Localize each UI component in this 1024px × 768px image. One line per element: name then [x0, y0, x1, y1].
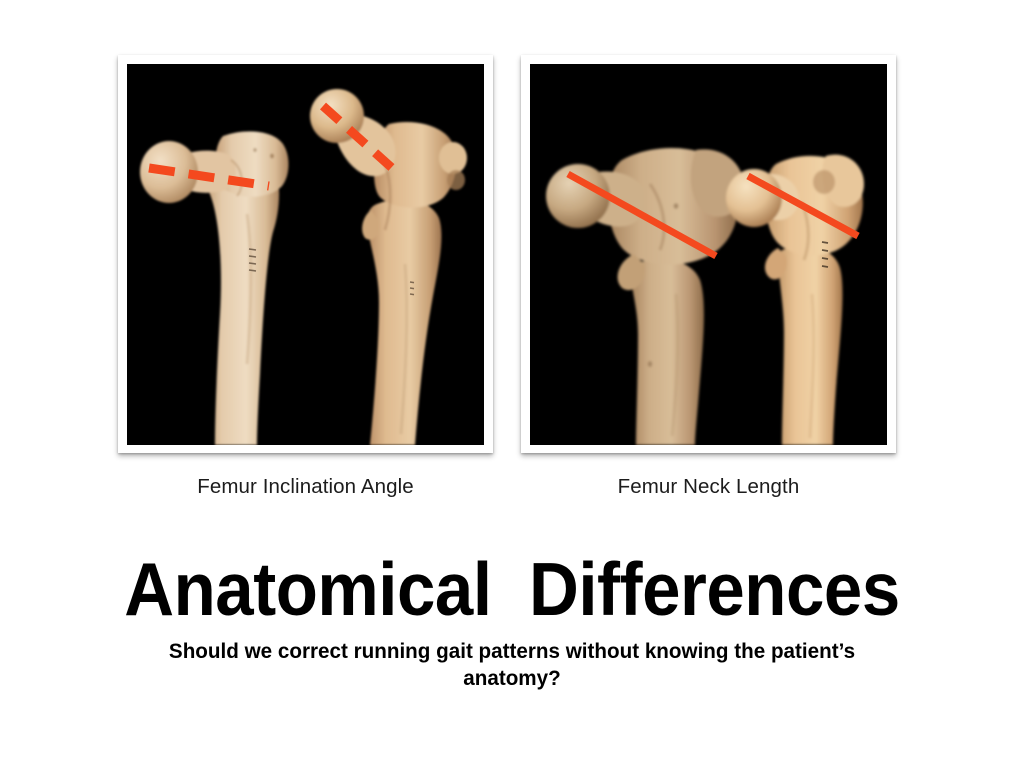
photo-frame-neck-length: [521, 55, 896, 453]
photo-frame-inclination: [118, 55, 493, 453]
figure-femur-neck-length: Femur Neck Length: [521, 55, 896, 453]
caption-femur-neck-length: Femur Neck Length: [521, 475, 896, 499]
slide-title: Anatomical Differences: [41, 548, 983, 630]
figure-femur-inclination-angle: Femur Inclination Angle: [118, 55, 493, 453]
photo-femur-inclination-angle: [127, 64, 484, 445]
caption-femur-inclination-angle: Femur Inclination Angle: [118, 475, 493, 499]
femur-inclination-illustration: [127, 64, 484, 445]
femur-neck-length-illustration: [530, 64, 887, 445]
title-block: Anatomical Differences Should we correct…: [0, 548, 1024, 692]
photo-femur-neck-length: [530, 64, 887, 445]
slide: Femur Inclination Angle: [0, 0, 1024, 768]
slide-subtitle: Should we correct running gait patterns …: [133, 638, 891, 692]
figure-row: Femur Inclination Angle: [0, 0, 1024, 520]
